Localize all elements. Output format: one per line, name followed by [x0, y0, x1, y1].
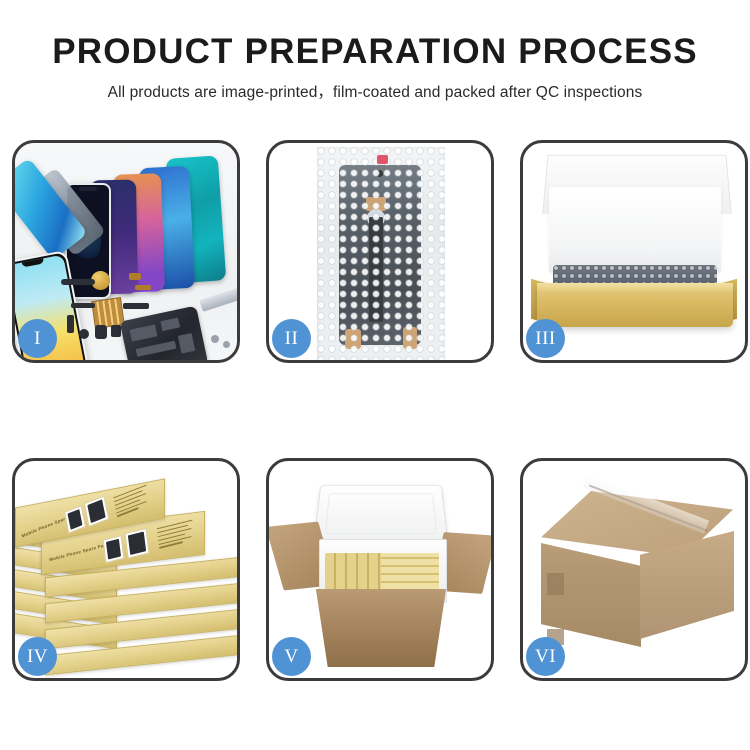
part-cable-icon [123, 303, 149, 309]
box-art-screen-2a [103, 535, 125, 563]
step-badge-4: IV [18, 637, 57, 676]
process-step-3: III [520, 140, 748, 363]
step-badge-1: I [18, 319, 57, 358]
step-badge-2: II [272, 319, 311, 358]
process-grid: I II [12, 140, 738, 681]
box-art-screen-1a [64, 505, 86, 534]
bubble-texture-icon [317, 147, 445, 360]
part-button-icon [79, 329, 89, 339]
process-step-5: V [266, 458, 494, 681]
page-root: PRODUCT PREPARATION PROCESS All products… [0, 0, 750, 750]
process-step-6: VI [520, 458, 748, 681]
page-subtitle: All products are image-printed，film-coat… [0, 80, 750, 102]
process-step-4: Mobile Phone Spare Parts Mobile Phone Sp… [12, 458, 240, 681]
foam-lid-icon [313, 485, 448, 545]
red-label-icon [377, 155, 388, 164]
screw-icon [211, 335, 219, 343]
step-badge-6: VI [526, 637, 565, 676]
part-chip2-icon [135, 285, 151, 290]
foam-sheet-icon [549, 187, 721, 273]
page-title: PRODUCT PREPARATION PROCESS [0, 34, 750, 71]
screw-2-icon [223, 341, 230, 348]
carton-body-icon [307, 589, 455, 667]
step-badge-3: III [526, 319, 565, 358]
part-strip-icon [61, 279, 95, 285]
tape-tab-1-icon [547, 573, 564, 595]
process-step-1: I [12, 140, 240, 363]
part-flex-icon [71, 303, 95, 308]
box-spec-lines-1 [113, 482, 157, 519]
box-spec-lines-2 [157, 519, 200, 552]
part-camera-icon [111, 325, 121, 337]
process-step-2: II [266, 140, 494, 363]
part-bar-icon [67, 315, 74, 333]
box-art-screen-2b [124, 528, 149, 559]
header: PRODUCT PREPARATION PROCESS All products… [0, 0, 750, 102]
part-chip-icon [129, 273, 141, 280]
box-label-2: Mobile Phone Spare Parts [49, 541, 110, 562]
step-badge-5: V [272, 637, 311, 676]
bubble-bag-icon [317, 147, 445, 360]
part-speaker-icon [95, 325, 107, 339]
gold-box-base-icon [537, 283, 733, 327]
box-art-screen-1b [84, 495, 109, 527]
